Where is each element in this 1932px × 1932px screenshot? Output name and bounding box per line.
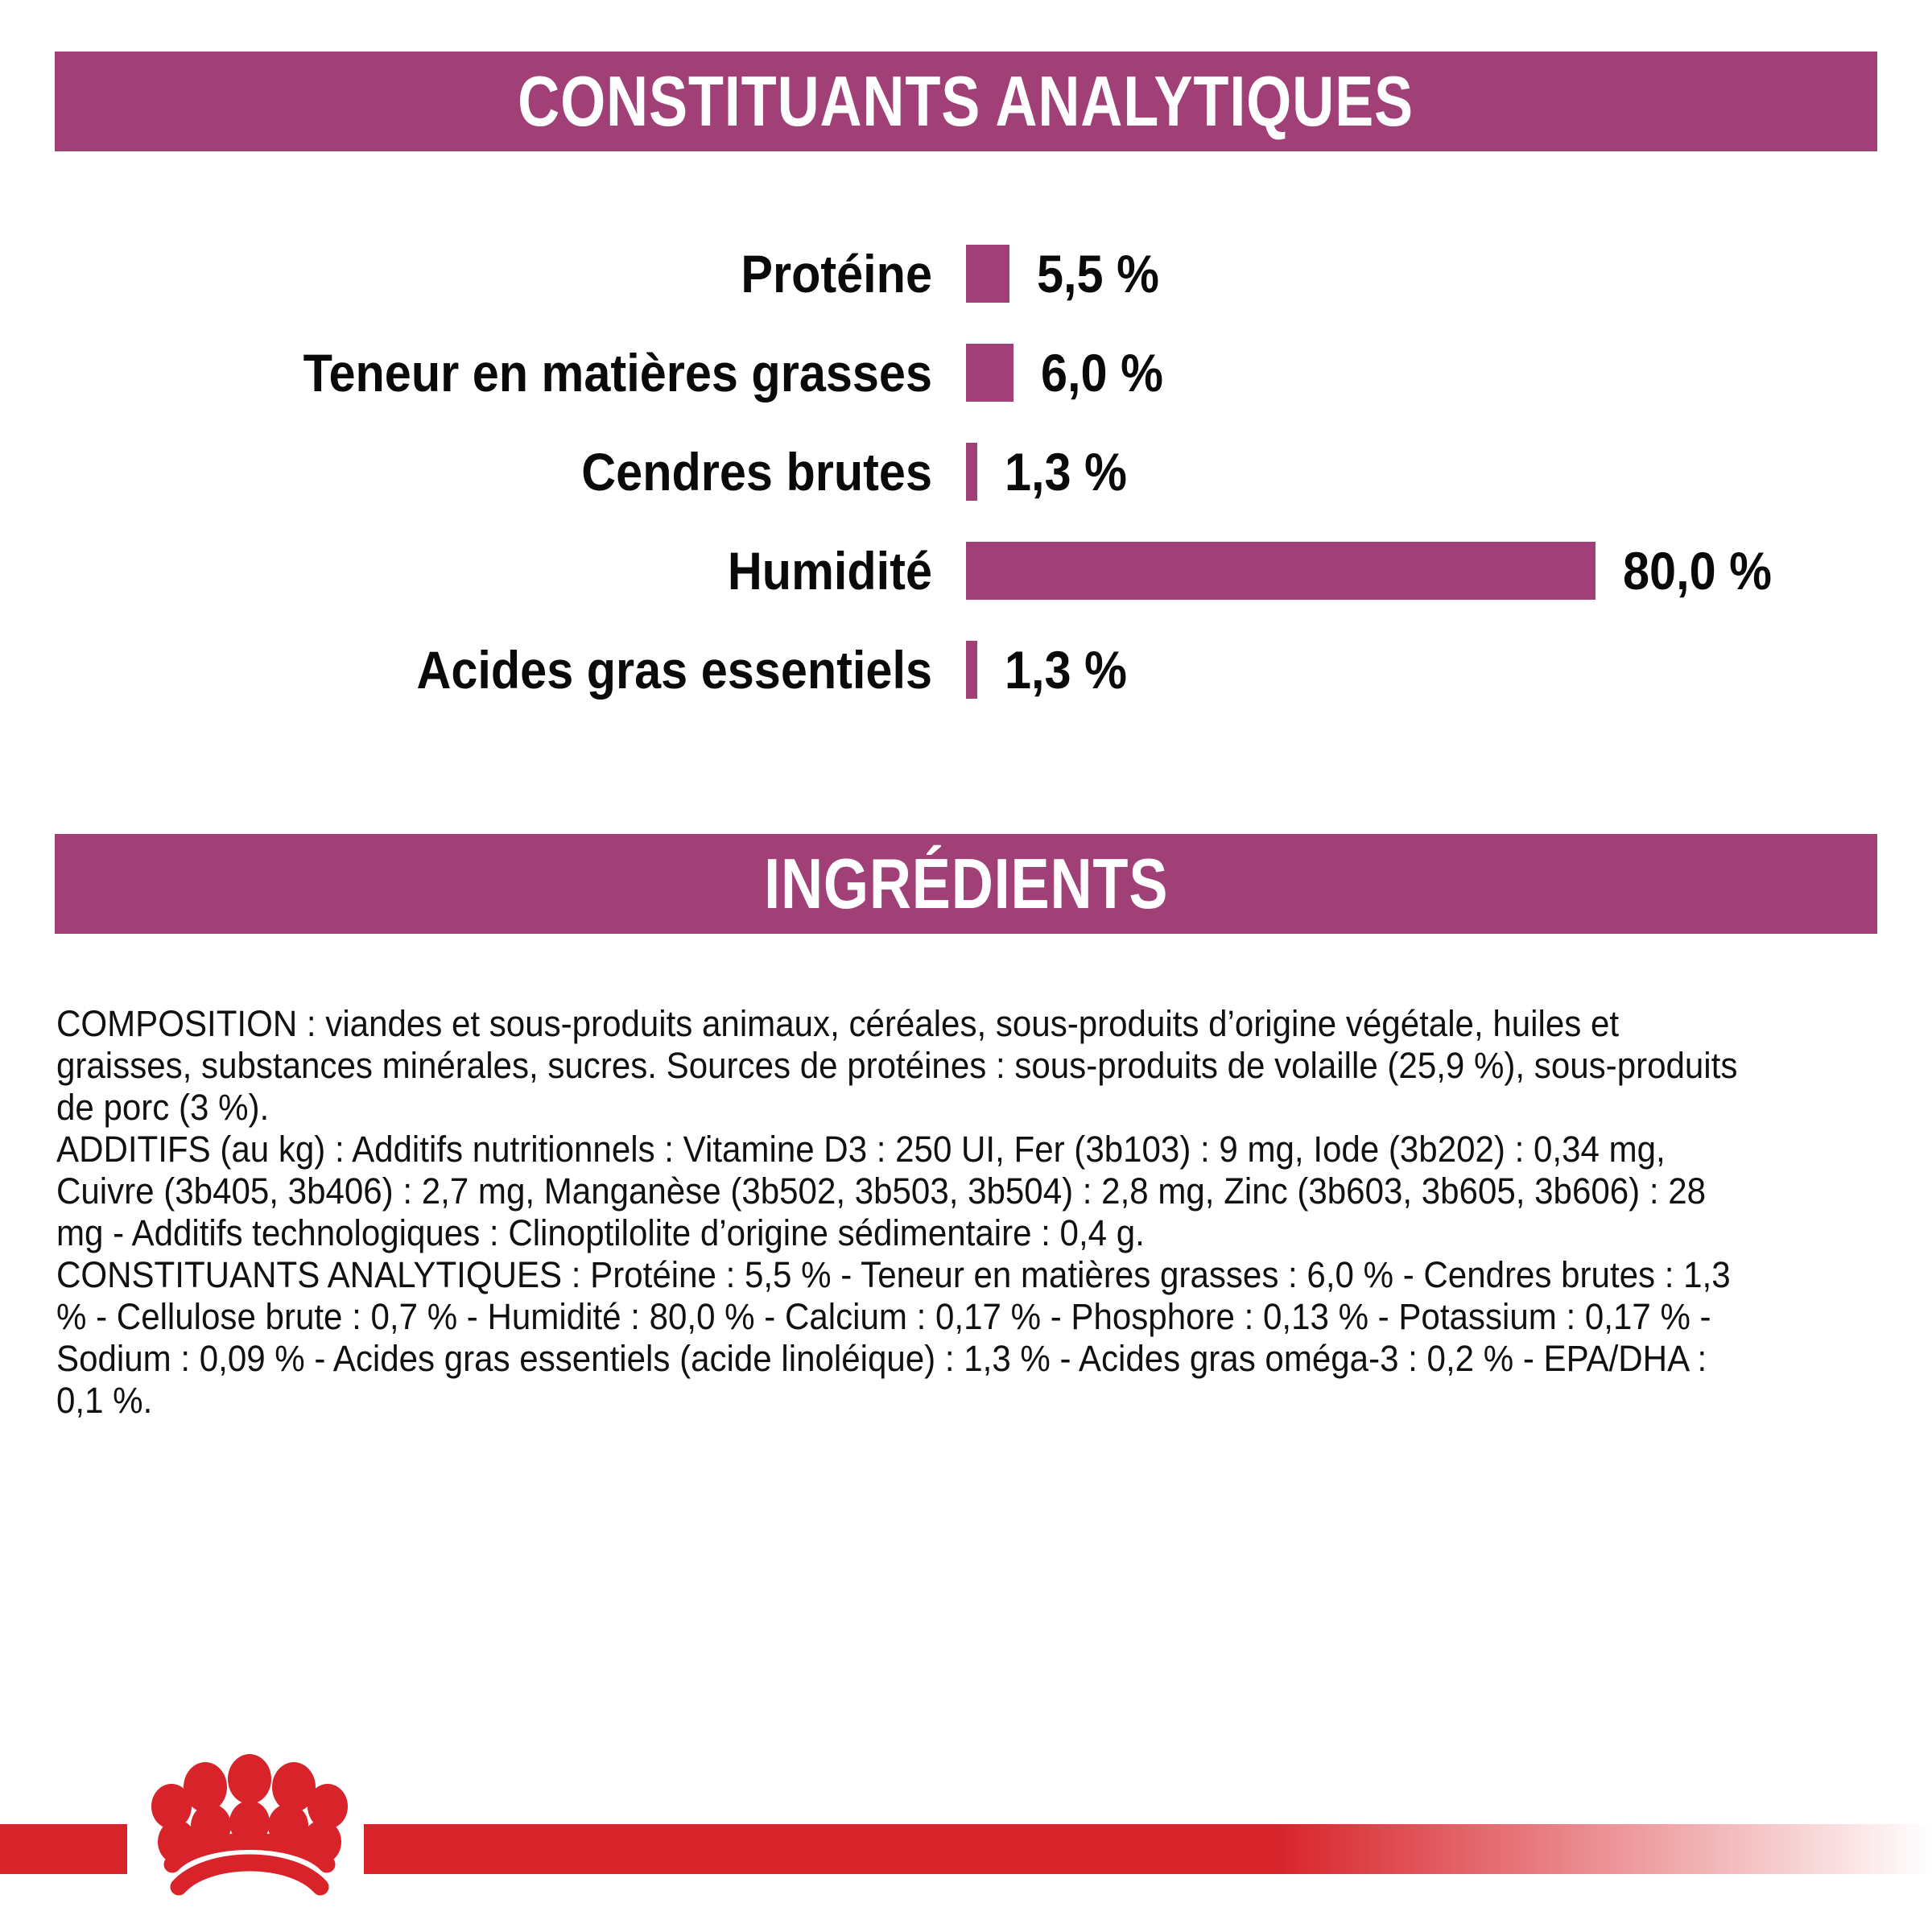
footer-bar-left-segment <box>0 1824 127 1874</box>
nutrient-row: Teneur en matières grasses6,0 % <box>0 323 1932 422</box>
analytical-constituents-bar-chart: Protéine5,5 %Teneur en matières grasses6… <box>0 224 1932 719</box>
royal-canin-crown-icon <box>137 1748 362 1909</box>
nutrient-bar-fill <box>966 245 1009 303</box>
nutrient-row: Humidité80,0 % <box>0 521 1932 620</box>
footer-bar-right-segment <box>364 1824 1932 1874</box>
nutrient-label: Acides gras essentiels <box>137 643 932 696</box>
nutrient-bar-fill <box>966 344 1013 402</box>
nutrient-row: Protéine5,5 % <box>0 224 1932 323</box>
nutrient-bar-fill <box>966 443 977 501</box>
nutrient-label: Cendres brutes <box>137 445 932 498</box>
product-label-page: CONSTITUANTS ANALYTIQUES Protéine5,5 %Te… <box>0 0 1932 1932</box>
constituants-analytiques-banner: CONSTITUANTS ANALYTIQUES <box>55 52 1877 151</box>
ingredients-text-block: COMPOSITION : viandes et sous-produits a… <box>56 1003 1750 1422</box>
nutrient-value: 6,0 % <box>1041 346 1163 399</box>
ingredients-title: INGRÉDIENTS <box>764 843 1168 925</box>
nutrient-value: 1,3 % <box>1005 643 1127 696</box>
nutrient-value: 5,5 % <box>1037 247 1159 300</box>
nutrient-bar-fill <box>966 542 1596 600</box>
nutrient-bar-track <box>966 245 1009 303</box>
nutrient-value: 1,3 % <box>1005 445 1127 498</box>
nutrient-bar-track <box>966 443 977 501</box>
nutrient-row: Acides gras essentiels1,3 % <box>0 620 1932 719</box>
nutrient-label: Humidité <box>137 544 932 597</box>
ingredients-banner: INGRÉDIENTS <box>55 834 1877 934</box>
nutrient-bar-fill <box>966 641 977 699</box>
nutrient-bar-track <box>966 641 977 699</box>
ingredients-paragraph: COMPOSITION : viandes et sous-produits a… <box>56 1003 1750 1129</box>
nutrient-label: Teneur en matières grasses <box>137 346 932 399</box>
ingredients-paragraph: CONSTITUANTS ANALYTIQUES : Protéine : 5,… <box>56 1254 1750 1422</box>
nutrient-bar-track <box>966 542 1596 600</box>
constituants-analytiques-title: CONSTITUANTS ANALYTIQUES <box>518 60 1414 142</box>
nutrient-value: 80,0 % <box>1623 544 1772 597</box>
nutrient-row: Cendres brutes1,3 % <box>0 422 1932 521</box>
nutrient-label: Protéine <box>137 247 932 300</box>
ingredients-paragraph: ADDITIFS (au kg) : Additifs nutritionnel… <box>56 1129 1750 1254</box>
nutrient-bar-track <box>966 344 1013 402</box>
